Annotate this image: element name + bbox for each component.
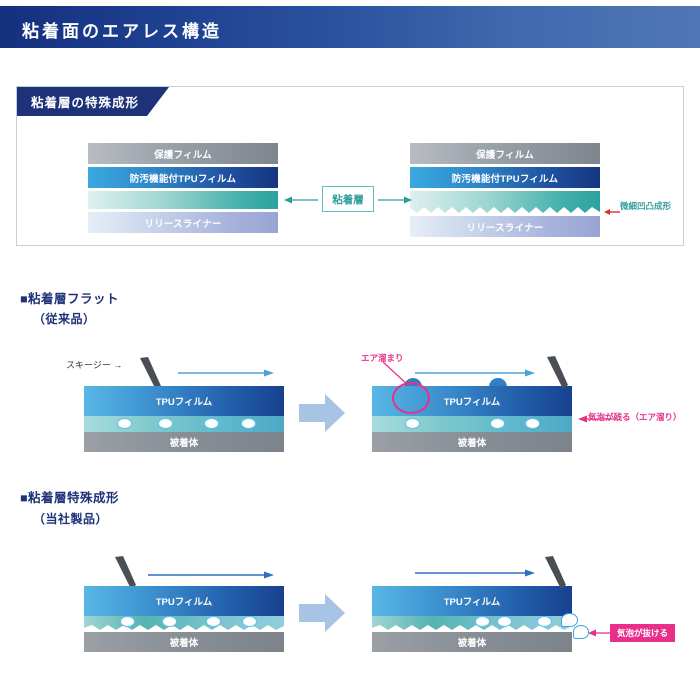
section-flat-subheading: （従来品） (33, 310, 96, 327)
micro-texture-label: 微細凹凸成形 (620, 200, 671, 212)
callout-arrow-right (378, 195, 412, 205)
wave-edge-icon (410, 205, 600, 214)
transition-arrow-icon (299, 392, 345, 434)
flat-before-diagram: TPUフィルム 被着体 (84, 386, 284, 446)
air-bubble (204, 418, 219, 429)
layer-release-liner: リリースライナー (410, 216, 600, 237)
air-bubble (241, 418, 256, 429)
textured-adhesive-stack: 保護フィルム 防汚機能付TPUフィルム リリースライナー (410, 143, 600, 240)
layer-adhesive-textured (410, 191, 600, 213)
air-bubble (120, 616, 135, 627)
layer-protective-film: 保護フィルム (88, 143, 278, 164)
bubble-remain-label: 気泡が残る（エア溜り） (588, 411, 682, 423)
air-pocket-highlight-circle (392, 382, 430, 414)
air-bubble (158, 418, 173, 429)
direction-arrow-icon (178, 368, 274, 378)
layer-tpu-film: 防汚機能付TPUフィルム (410, 167, 600, 188)
section-textured-subheading: （当社製品） (33, 510, 108, 527)
callout-arrow-left (284, 195, 318, 205)
diagram-substrate-layer: 被着体 (372, 632, 572, 652)
bubble-escape-label: 気泡が抜ける (610, 624, 675, 642)
bubble-escape-arrow-icon (588, 628, 612, 638)
section-flat-heading: ■粘着層フラット (20, 288, 119, 307)
page-title: 粘着面のエアレス構造 (22, 17, 222, 42)
diagram-tpu-layer: TPUフィルム (372, 586, 572, 616)
squeegee-icon (545, 356, 571, 392)
diagram-tpu-layer: TPUフィルム (84, 586, 284, 616)
diagram-substrate-layer: 被着体 (372, 432, 572, 452)
air-bubble (525, 418, 540, 429)
layer-release-liner: リリースライナー (88, 212, 278, 233)
squeegee-icon (543, 556, 569, 592)
diagram-tpu-layer: TPUフィルム (84, 386, 284, 416)
direction-arrow-icon (148, 570, 274, 580)
diagram-adhesive-layer (372, 416, 572, 432)
air-bubble (497, 616, 512, 627)
layer-adhesive-flat (88, 191, 278, 209)
air-bubble (405, 418, 420, 429)
micro-texture-arrow-icon (604, 203, 620, 221)
diagram-substrate-layer: 被着体 (84, 432, 284, 452)
direction-arrow-icon (415, 568, 535, 578)
escaping-bubble (573, 625, 589, 639)
air-bubble (117, 418, 132, 429)
panel-tab-label: 粘着層の特殊成形 (17, 87, 169, 116)
textured-after-diagram: TPUフィルム 被着体 (372, 586, 572, 646)
squeegee-label: スキージー → (66, 358, 122, 371)
layer-tpu-film: 防汚機能付TPUフィルム (88, 167, 278, 188)
air-bubble (206, 616, 221, 627)
air-bubble (162, 616, 177, 627)
layer-protective-film: 保護フィルム (410, 143, 600, 164)
air-bubble (475, 616, 490, 627)
air-bubble (242, 616, 257, 627)
flat-adhesive-stack: 保護フィルム 防汚機能付TPUフィルム リリースライナー (88, 143, 278, 236)
page-header-bar: 粘着面のエアレス構造 (0, 6, 700, 48)
air-bubble (537, 616, 552, 627)
section-textured-heading: ■粘着層特殊成形 (20, 487, 119, 506)
page-root: 粘着面のエアレス構造 粘着層の特殊成形 保護フィルム 防汚機能付TPUフィルム … (0, 0, 700, 700)
transition-arrow-icon (299, 592, 345, 634)
adhesive-layer-callout: 粘着層 (322, 186, 374, 212)
textured-before-diagram: TPUフィルム 被着体 (84, 586, 284, 646)
air-bubble (490, 418, 505, 429)
escaping-bubble (561, 613, 578, 627)
diagram-substrate-layer: 被着体 (84, 632, 284, 652)
direction-arrow-icon (415, 368, 535, 378)
